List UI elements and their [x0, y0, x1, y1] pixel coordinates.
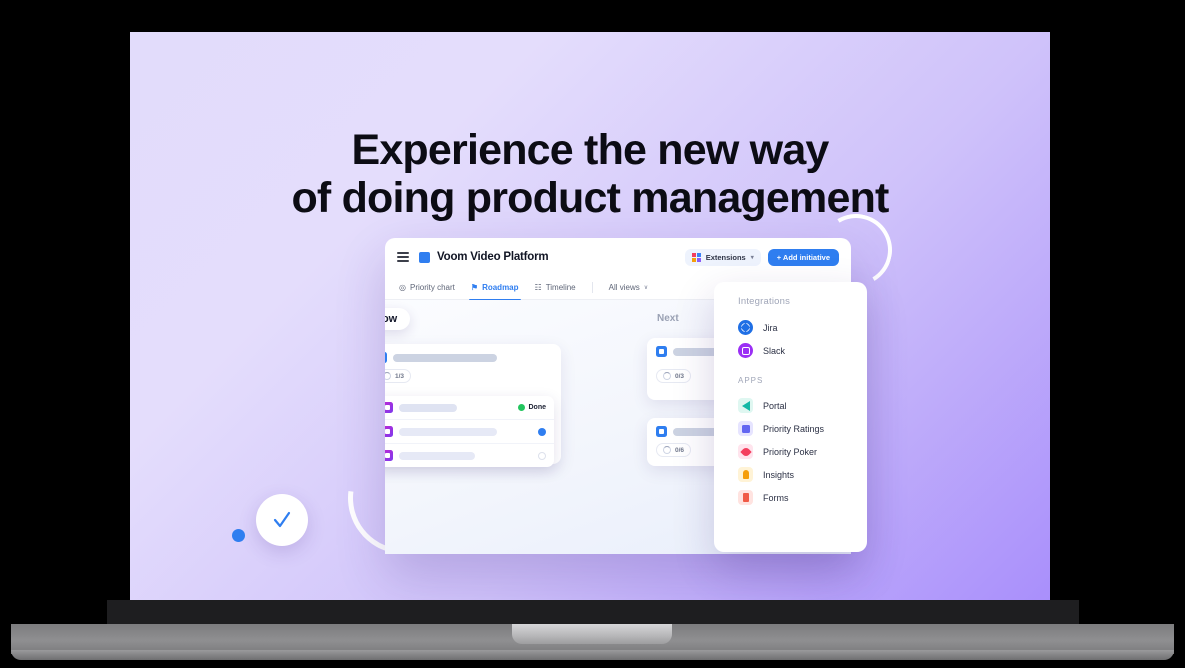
app-item-priority-poker[interactable]: Priority Poker [714, 440, 867, 463]
forms-icon [738, 490, 753, 505]
extensions-button[interactable]: Extensions ▾ [685, 249, 761, 266]
target-icon: ◎ [399, 284, 406, 292]
column-header-now: Now [385, 308, 410, 330]
title-placeholder [399, 452, 475, 460]
title-placeholder [393, 354, 497, 362]
extensions-grid-icon [692, 253, 701, 262]
card-next-1-progress: 0/3 [656, 369, 691, 383]
feature-square-icon [385, 450, 393, 461]
app-item-forms[interactable]: Forms [714, 486, 867, 509]
card-next-1-progress-label: 0/3 [675, 373, 684, 380]
list-item[interactable]: Done [385, 396, 554, 420]
integration-item-label: Jira [763, 323, 778, 333]
app-item-portal[interactable]: Portal [714, 394, 867, 417]
app-item-label: Portal [763, 401, 787, 411]
card-now-header [385, 344, 561, 363]
portal-icon [738, 398, 753, 413]
column-header-next: Next [657, 313, 679, 324]
add-initiative-label: + Add initiative [777, 253, 830, 262]
apps-section-title: APPS [714, 376, 867, 385]
progress-ring-icon [663, 446, 671, 454]
laptop-notch [512, 624, 672, 644]
integrations-panel: Integrations Jira Slack APPS Portal Prio… [714, 282, 867, 552]
priority-poker-icon [738, 444, 753, 459]
integration-item-label: Slack [763, 346, 785, 356]
check-icon [270, 508, 294, 532]
project-title: Voom Video Platform [437, 251, 548, 263]
list-item[interactable] [385, 420, 554, 444]
slack-icon [738, 343, 753, 358]
check-badge [256, 494, 308, 546]
timeline-icon: ☷ [535, 284, 542, 292]
title-placeholder [399, 404, 457, 412]
chevron-down-icon: ▾ [751, 254, 754, 261]
tab-roadmap[interactable]: ⚑ Roadmap [471, 276, 519, 300]
app-item-label: Priority Poker [763, 447, 817, 457]
progress-ring-icon [663, 372, 671, 380]
initiative-square-icon [385, 352, 387, 363]
integration-item-jira[interactable]: Jira [714, 316, 867, 339]
add-initiative-button[interactable]: + Add initiative [768, 249, 839, 266]
feature-square-icon [385, 402, 393, 413]
integration-item-slack[interactable]: Slack [714, 339, 867, 362]
integrations-section-title: Integrations [714, 296, 867, 307]
card-next-2-progress: 0/6 [656, 443, 691, 457]
all-views-label: All views [609, 283, 640, 292]
tabs-divider [592, 282, 593, 293]
tab-timeline[interactable]: ☷ Timeline [535, 276, 576, 300]
tab-roadmap-label: Roadmap [482, 283, 518, 292]
app-item-label: Forms [763, 493, 789, 503]
insights-icon [738, 467, 753, 482]
feature-square-icon [385, 426, 393, 437]
priority-ratings-icon [738, 421, 753, 436]
app-item-label: Insights [763, 470, 794, 480]
app-item-insights[interactable]: Insights [714, 463, 867, 486]
card-now-subitems: Done [385, 396, 554, 467]
initiative-square-icon [656, 426, 667, 437]
app-item-priority-ratings[interactable]: Priority Ratings [714, 417, 867, 440]
list-item[interactable] [385, 444, 554, 467]
chevron-down-icon: ∨ [644, 284, 648, 291]
app-header: Voom Video Platform Extensions ▾ + Add i… [385, 238, 851, 276]
headline-line-2: of doing product management [130, 174, 1050, 222]
progress-ring-icon [385, 372, 391, 380]
status-badge-label: Done [529, 404, 547, 411]
decorative-dot [232, 529, 245, 542]
laptop-screen: Experience the new way of doing product … [130, 32, 1050, 600]
card-now-progress-label: 1/3 [395, 373, 404, 380]
laptop-mockup: Experience the new way of doing product … [0, 0, 1185, 668]
hamburger-icon[interactable] [397, 252, 409, 262]
card-next-2-progress-label: 0/6 [675, 447, 684, 454]
tab-priority-chart[interactable]: ◎ Priority chart [399, 276, 455, 300]
card-now-progress: 1/3 [385, 369, 411, 383]
extensions-button-label: Extensions [706, 253, 746, 262]
jira-icon [738, 320, 753, 335]
app-item-label: Priority Ratings [763, 424, 824, 434]
headline-line-1: Experience the new way [351, 126, 828, 174]
app-header-actions: Extensions ▾ + Add initiative [685, 249, 839, 266]
all-views-dropdown[interactable]: All views ∨ [609, 283, 649, 292]
flag-icon: ⚑ [471, 284, 478, 292]
tab-priority-chart-label: Priority chart [410, 283, 455, 292]
title-placeholder [399, 428, 497, 436]
status-dot-empty-icon [538, 452, 546, 460]
initiative-square-icon [656, 346, 667, 357]
project-square-icon [419, 252, 430, 263]
status-dot-green-icon [518, 404, 525, 411]
page-title: Experience the new way of doing product … [130, 126, 1050, 222]
status-dot-blue-icon [538, 428, 546, 436]
card-now[interactable]: 1/3 Done [385, 344, 561, 464]
status-badge: Done [518, 404, 547, 411]
tab-timeline-label: Timeline [546, 283, 576, 292]
laptop-base-lip [11, 650, 1174, 660]
